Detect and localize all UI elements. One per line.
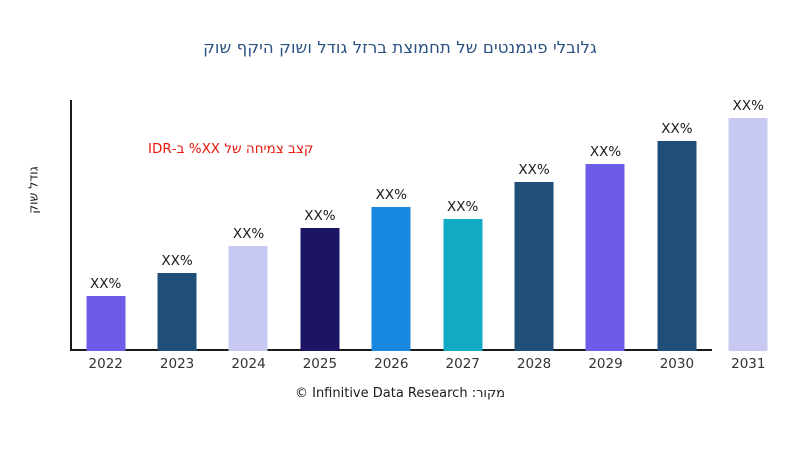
chart-container: גלובלי פיגמנטים של תחמוצת ברזל גודל ושוק…: [0, 0, 800, 450]
bar-value-label-2029: XX%: [590, 144, 621, 160]
y-axis-title: גודל שוק: [26, 166, 41, 214]
bar-slot: XX%: [498, 100, 569, 351]
bar-2026[interactable]: [372, 207, 411, 351]
bar-value-label-2028: XX%: [518, 162, 549, 178]
bar-2022[interactable]: [86, 296, 125, 351]
x-tick-2031: 2031: [713, 356, 784, 372]
bar-value-label-2025: XX%: [304, 208, 335, 224]
bar-2029[interactable]: [586, 164, 625, 351]
bar-slot: XX%: [141, 100, 212, 351]
x-tick-2023: 2023: [141, 356, 212, 372]
bar-slot: XX%: [641, 100, 712, 351]
bar-value-label-2024: XX%: [233, 226, 264, 242]
bar-2027[interactable]: [443, 219, 482, 351]
x-tick-2024: 2024: [213, 356, 284, 372]
bar-2028[interactable]: [515, 182, 554, 351]
bar-2025[interactable]: [300, 228, 339, 351]
bar-value-label-2030: XX%: [661, 121, 692, 137]
bar-slot: XX%: [70, 100, 141, 351]
bar-slot: XX%: [213, 100, 284, 351]
bar-slot: XX%: [284, 100, 355, 351]
bar-2031[interactable]: [729, 118, 768, 351]
source-caption: מקור: Infinitive Data Research ©: [0, 386, 800, 401]
bar-2023[interactable]: [158, 273, 197, 351]
x-tick-2022: 2022: [70, 356, 141, 372]
x-tick-2028: 2028: [498, 356, 569, 372]
bar-value-label-2026: XX%: [376, 187, 407, 203]
bar-series: XX%XX%XX%XX%XX%XX%XX%XX%XX%XX%: [70, 100, 784, 351]
x-tick-2026: 2026: [356, 356, 427, 372]
bar-value-label-2023: XX%: [161, 253, 192, 269]
bar-2024[interactable]: [229, 246, 268, 351]
x-tick-2029: 2029: [570, 356, 641, 372]
x-axis-tick-labels: 2022202320242025202620272028202920302031: [70, 356, 784, 378]
bar-slot: XX%: [356, 100, 427, 351]
bar-slot: XX%: [570, 100, 641, 351]
bar-value-label-2022: XX%: [90, 276, 121, 292]
chart-title: גלובלי פיגמנטים של תחמוצת ברזל גודל ושוק…: [0, 38, 800, 57]
y-axis-title-container: גודל שוק: [16, 135, 50, 245]
bar-value-label-2031: XX%: [733, 98, 764, 114]
bar-value-label-2027: XX%: [447, 199, 478, 215]
bar-slot: XX%: [427, 100, 498, 351]
x-tick-2025: 2025: [284, 356, 355, 372]
x-tick-2027: 2027: [427, 356, 498, 372]
bar-2030[interactable]: [657, 141, 696, 351]
x-tick-2030: 2030: [641, 356, 712, 372]
bar-slot: XX%: [713, 100, 784, 351]
